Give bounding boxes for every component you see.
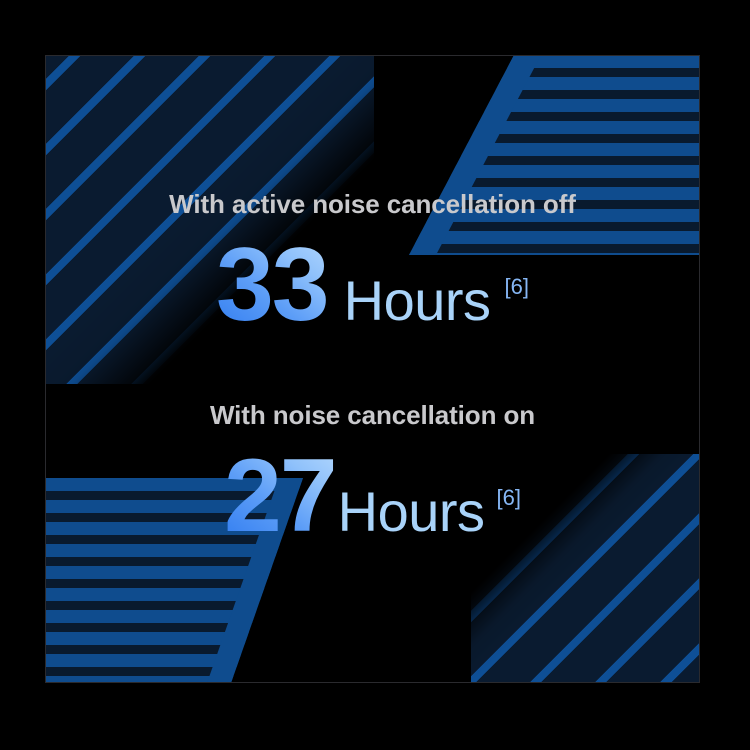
stat-value-row-anc-off: 33 Hours [6] bbox=[216, 233, 529, 337]
stat-value-row-anc-on: 27 Hours [6] bbox=[224, 444, 521, 548]
stat-footnote-anc-off: [6] bbox=[505, 276, 529, 298]
stat-number-anc-on: 27 bbox=[224, 444, 336, 548]
stat-number-anc-off: 33 bbox=[216, 233, 328, 337]
stat-heading-anc-on: With noise cancellation on bbox=[210, 401, 535, 430]
stat-heading-anc-off: With active noise cancellation off bbox=[169, 190, 576, 219]
stat-block-anc-off: With active noise cancellation off 33 Ho… bbox=[46, 190, 699, 337]
stats-content: With active noise cancellation off 33 Ho… bbox=[46, 56, 699, 682]
stat-footnote-anc-on: [6] bbox=[497, 487, 521, 509]
stat-block-anc-on: With noise cancellation on 27 Hours [6] bbox=[46, 401, 699, 548]
battery-life-panel: With active noise cancellation off 33 Ho… bbox=[45, 55, 700, 683]
stat-unit-anc-on: Hours bbox=[338, 484, 485, 540]
stat-unit-anc-off: Hours bbox=[344, 273, 491, 329]
page-canvas: With active noise cancellation off 33 Ho… bbox=[0, 0, 750, 750]
